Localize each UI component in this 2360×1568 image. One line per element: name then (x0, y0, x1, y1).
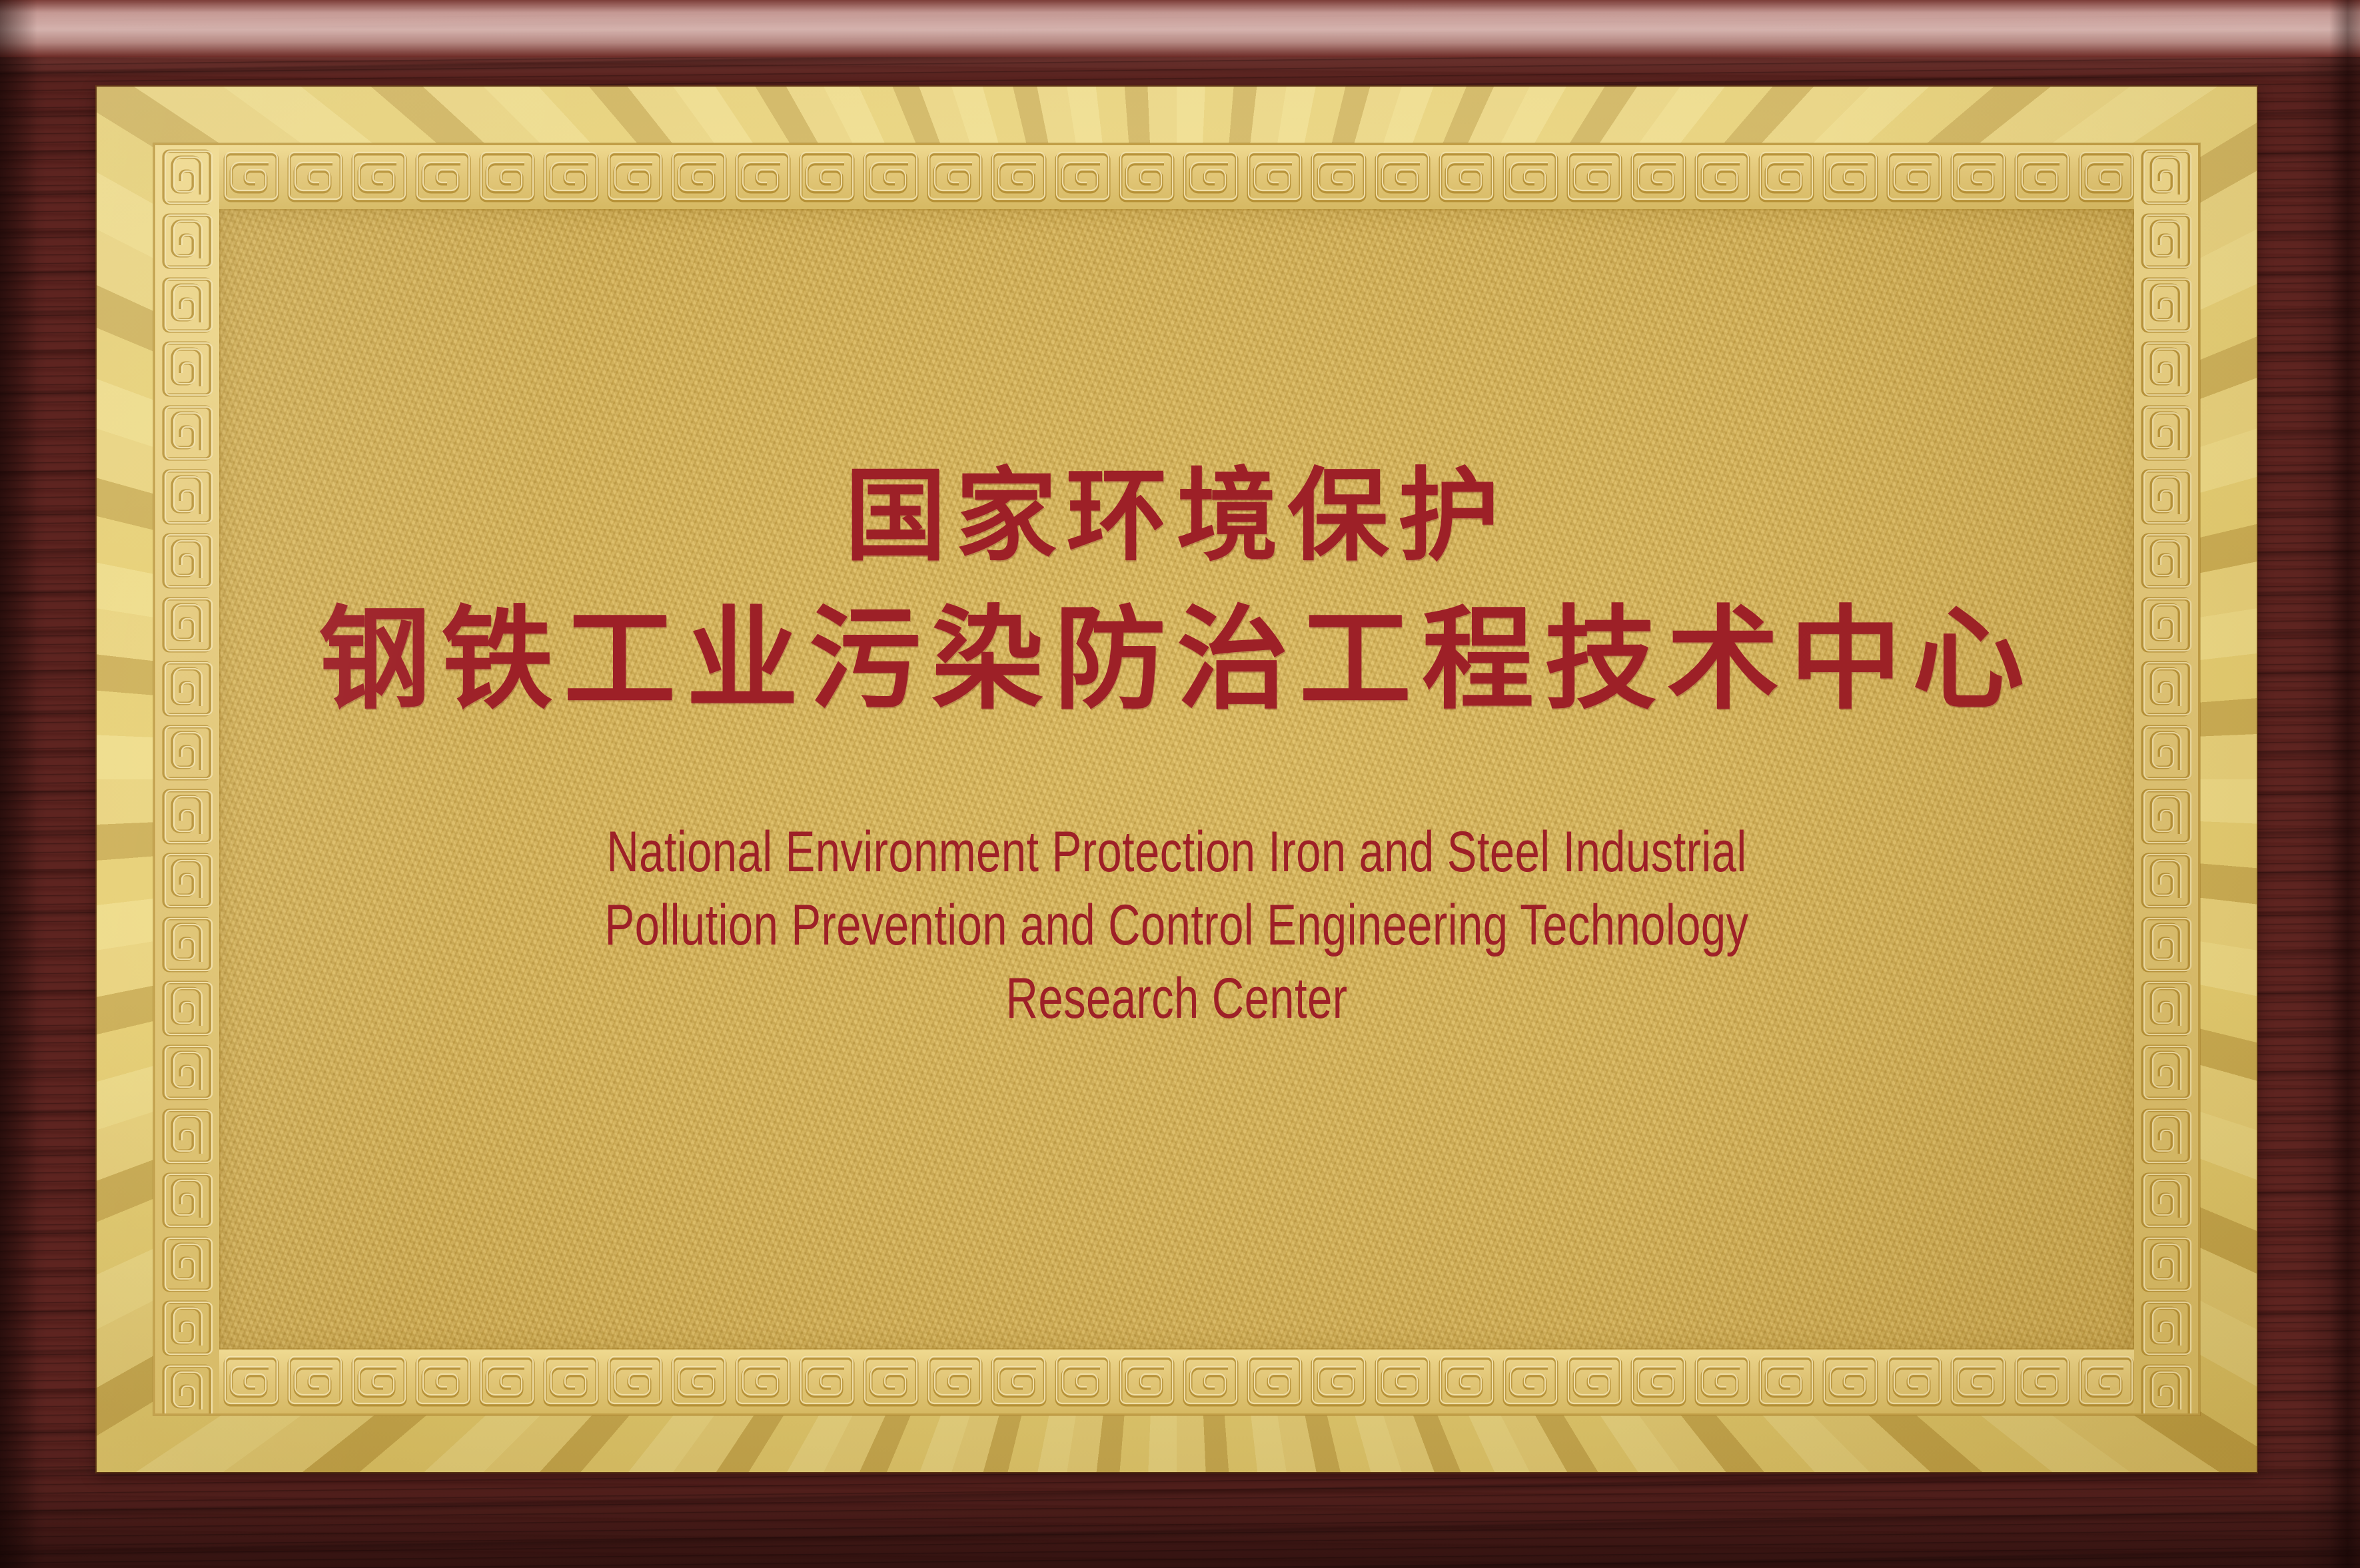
meander-band-left (155, 145, 219, 1413)
gold-plate: 国家环境保护 钢铁工业污染防治工程技术中心 National Environme… (97, 87, 2257, 1472)
frame-bevel-right-shadow (2329, 0, 2360, 1568)
frame-bevel-left-shadow (0, 0, 37, 1568)
english-subtitle-line-2: Pollution Prevention and Control Enginee… (452, 889, 1902, 962)
inscription-block: 国家环境保护 钢铁工业污染防治工程技术中心 National Environme… (219, 209, 2134, 1350)
frame-bevel-top-highlight (0, 0, 2360, 57)
meander-band-bottom (155, 1350, 2198, 1413)
chinese-title-line-1: 国家环境保护 (845, 466, 1508, 567)
meander-band-top (155, 145, 2198, 209)
meander-band-right (2134, 145, 2198, 1413)
meander-border-frame: 国家环境保护 钢铁工业污染防治工程技术中心 National Environme… (153, 143, 2200, 1415)
chinese-title-line-2: 钢铁工业污染防治工程技术中心 (318, 603, 2035, 715)
english-subtitle-line-3: Research Center (452, 962, 1902, 1035)
english-subtitle-block: National Environment Protection Iron and… (247, 815, 2106, 1035)
frame-bevel-bottom-shadow (0, 1488, 2360, 1568)
english-subtitle-line-1: National Environment Protection Iron and… (452, 815, 1902, 889)
inner-gold-field: 国家环境保护 钢铁工业污染防治工程技术中心 National Environme… (219, 209, 2134, 1350)
award-plaque: 国家环境保护 钢铁工业污染防治工程技术中心 National Environme… (0, 0, 2360, 1568)
